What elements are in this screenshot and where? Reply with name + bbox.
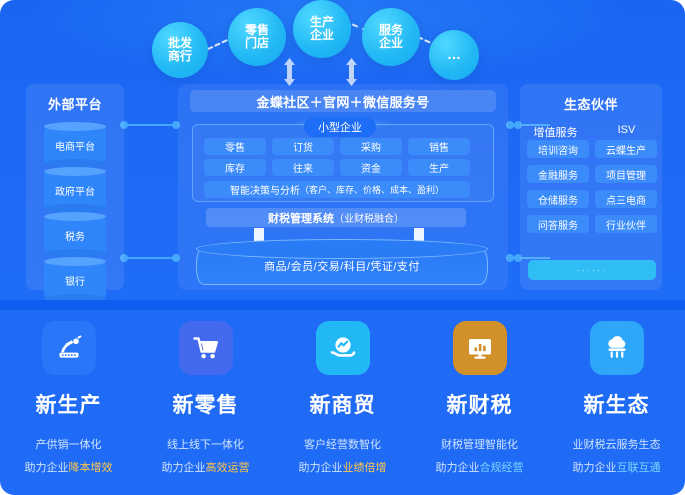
pillar-title: 新商贸 (274, 389, 411, 419)
community-header-label: 金蝶社区＋官网＋微信服务号 (257, 92, 430, 111)
hand-chart-icon-bg (316, 321, 370, 375)
external-platform-item-bank[interactable]: 银行 (44, 261, 106, 299)
pillar-subtitle-2: 助力企业高效运营 (137, 459, 274, 475)
pillar-sub2-prefix: 助力企业 (573, 462, 617, 474)
isv-cloud-production[interactable]: 云蝶生产 (595, 140, 657, 158)
pillar-new-tax[interactable]: 新财税 财税管理智能化 助力企业合规经营 (411, 310, 548, 475)
node-line-1: 批发 (168, 37, 192, 50)
node-line-2: 门店 (245, 37, 269, 50)
node-line-2: 企业 (310, 29, 334, 42)
node-retail-store[interactable]: 零售 门店 (228, 8, 286, 66)
isv-dian-san-ecommerce[interactable]: 点三电商 (595, 190, 657, 208)
architecture-infographic: 批发 商行 零售 门店 生产 企业 服务 企业 (0, 0, 685, 495)
node-line-2: 商行 (168, 50, 192, 63)
badge-label: 小型企业 (318, 122, 362, 134)
double-arrow-icon-left (283, 58, 296, 86)
pill-label: 行业伙伴 (606, 217, 646, 232)
isv-industry-partner[interactable]: 行业伙伴 (595, 215, 657, 233)
pillar-sub2-highlight: 合规经营 (480, 462, 524, 474)
value-pillars-section: 新生产 产供销一体化 助力企业降本增效 新零售 线上线下一体化 助力企业高效运营 (0, 310, 685, 495)
column-head-value-added: 增值服务 (520, 124, 591, 140)
node-manufacturing[interactable]: 生产 企业 (293, 0, 351, 58)
pillar-sub2-highlight: 高效运营 (206, 462, 250, 474)
pillar-new-retail[interactable]: 新零售 线上线下一体化 助力企业高效运营 (137, 310, 274, 475)
pillar-title: 新零售 (137, 389, 274, 419)
partner-qa-service[interactable]: 问答服务 (527, 215, 589, 233)
pillar-title: 新生产 (0, 389, 137, 419)
item-label: 银行 (65, 273, 85, 288)
node-wholesale[interactable]: 批发 商行 (152, 22, 208, 78)
cloud-network-icon-bg (590, 321, 644, 375)
node-line-1: 服务 (379, 24, 403, 37)
module-ordering[interactable]: 订货 (272, 138, 334, 155)
pillar-new-ecosystem[interactable]: 新生态 业财税云服务生态 助力企业互联互通 (548, 310, 685, 475)
pill-label: 金融服务 (538, 167, 578, 182)
module-sales[interactable]: 销售 (408, 138, 470, 155)
community-header-bar[interactable]: 金蝶社区＋官网＋微信服务号 (190, 90, 496, 112)
pill-label: 培训咨询 (538, 142, 578, 157)
pillar-sub2-highlight: 业绩倍增 (343, 462, 387, 474)
module-procurement[interactable]: 采购 (340, 138, 402, 155)
external-platform-title: 外部平台 (26, 94, 124, 113)
pillar-subtitle-1: 产供销一体化 (0, 436, 137, 452)
shopping-cart-icon-bg (179, 321, 233, 375)
chip-label: 生产 (429, 160, 449, 175)
smart-analysis-main: 智能决策与分析 (230, 182, 300, 197)
item-label: 政府平台 (55, 183, 95, 198)
module-transactions[interactable]: 往来 (272, 159, 334, 176)
node-service[interactable]: 服务 企业 (362, 8, 420, 66)
item-label: 税务 (65, 228, 85, 243)
pillar-sub2-prefix: 助力企业 (299, 462, 343, 474)
external-platform-panel: 外部平台 电商平台 政府平台 税务 银行 (26, 84, 124, 290)
connector-line-left-top (126, 124, 176, 126)
isv-project-management[interactable]: 项目管理 (595, 165, 657, 183)
industry-chain: 批发 商行 零售 门店 生产 企业 服务 企业 (0, 0, 685, 90)
module-retail[interactable]: 零售 (204, 138, 266, 155)
tax-system-bar[interactable]: 财税管理系统 （业财税融合） (206, 208, 466, 227)
data-layer-label: 商品/会员/交易/科目/凭证/支付 (264, 258, 420, 274)
external-platform-item-government[interactable]: 政府平台 (44, 171, 106, 209)
hand-chart-icon (328, 333, 358, 363)
module-inventory[interactable]: 库存 (204, 159, 266, 176)
pillar-subtitle-1: 财税管理智能化 (411, 436, 548, 452)
partner-more-label: ······ (577, 265, 607, 275)
pillar-subtitle-1: 业财税云服务生态 (548, 436, 685, 452)
pillar-subtitle-2: 助力企业合规经营 (411, 459, 548, 475)
node-line-1: … (447, 47, 461, 63)
monitor-bars-icon (465, 333, 495, 363)
partner-warehouse-service[interactable]: 仓储服务 (527, 190, 589, 208)
pill-label: 点三电商 (606, 192, 646, 207)
pillar-subtitle-2: 助力企业互联互通 (548, 459, 685, 475)
pillar-subtitle-1: 线上线下一体化 (137, 436, 274, 452)
small-enterprise-badge: 小型企业 (304, 117, 376, 137)
cloud-network-icon (602, 333, 632, 363)
external-platform-item-tax[interactable]: 税务 (44, 216, 106, 254)
partner-more-bar[interactable]: ······ (528, 260, 656, 280)
pill-label: 云蝶生产 (606, 142, 646, 157)
node-more[interactable]: … (429, 30, 479, 80)
chip-label: 销售 (429, 139, 449, 154)
partner-financial-service[interactable]: 金融服务 (527, 165, 589, 183)
pillar-sub2-prefix: 助力企业 (25, 462, 69, 474)
pillar-title: 新生态 (548, 389, 685, 419)
module-production[interactable]: 生产 (408, 159, 470, 176)
pill-label: 问答服务 (538, 217, 578, 232)
node-line-2: 企业 (379, 37, 403, 50)
chip-label: 零售 (225, 139, 245, 154)
chip-label: 订货 (293, 139, 313, 154)
tax-system-sub: （业财税融合） (334, 210, 404, 225)
pillar-title: 新财税 (411, 389, 548, 419)
chip-label: 资金 (361, 160, 381, 175)
column-head-isv: ISV (591, 124, 662, 136)
ecosystem-partner-title: 生态伙伴 (520, 94, 662, 113)
connector-line-left-bottom (126, 257, 176, 259)
module-funds[interactable]: 资金 (340, 159, 402, 176)
architecture-upper-section: 批发 商行 零售 门店 生产 企业 服务 企业 (0, 0, 685, 302)
robot-arm-icon (54, 333, 84, 363)
pillar-subtitle-2: 助力企业业绩倍增 (274, 459, 411, 475)
pillar-new-commerce[interactable]: 新商贸 客户经营数智化 助力企业业绩倍增 (274, 310, 411, 475)
external-platform-item-ecommerce[interactable]: 电商平台 (44, 126, 106, 164)
section-divider (0, 300, 685, 310)
chip-label: 库存 (225, 160, 245, 175)
pillar-sub2-highlight: 互联互通 (617, 462, 661, 474)
robot-arm-icon-bg (42, 321, 96, 375)
pillar-new-production[interactable]: 新生产 产供销一体化 助力企业降本增效 (0, 310, 137, 475)
pillar-subtitle-2: 助力企业降本增效 (0, 459, 137, 475)
node-line-1: 零售 (245, 24, 269, 37)
shopping-cart-icon (191, 333, 221, 363)
monitor-bars-icon-bg (453, 321, 507, 375)
item-label: 电商平台 (55, 138, 95, 153)
pillar-subtitle-1: 客户经营数智化 (274, 436, 411, 452)
pillar-sub2-prefix: 助力企业 (436, 462, 480, 474)
chip-label: 采购 (361, 139, 381, 154)
chip-label: 往来 (293, 160, 313, 175)
partner-training-consulting[interactable]: 培训咨询 (527, 140, 589, 158)
data-layer-cylinder[interactable]: 商品/会员/交易/科目/凭证/支付 (196, 247, 488, 285)
double-arrow-icon-right (345, 58, 358, 86)
node-line-1: 生产 (310, 16, 334, 29)
pill-label: 项目管理 (606, 167, 646, 182)
pill-label: 仓储服务 (538, 192, 578, 207)
smart-analysis-bar[interactable]: 智能决策与分析 （客户、库存、价格、成本、盈利） (204, 181, 470, 198)
pillar-sub2-highlight: 降本增效 (69, 462, 113, 474)
pillar-sub2-prefix: 助力企业 (162, 462, 206, 474)
smart-analysis-sub: （客户、库存、价格、成本、盈利） (300, 183, 444, 196)
tax-system-main: 财税管理系统 (268, 210, 334, 226)
